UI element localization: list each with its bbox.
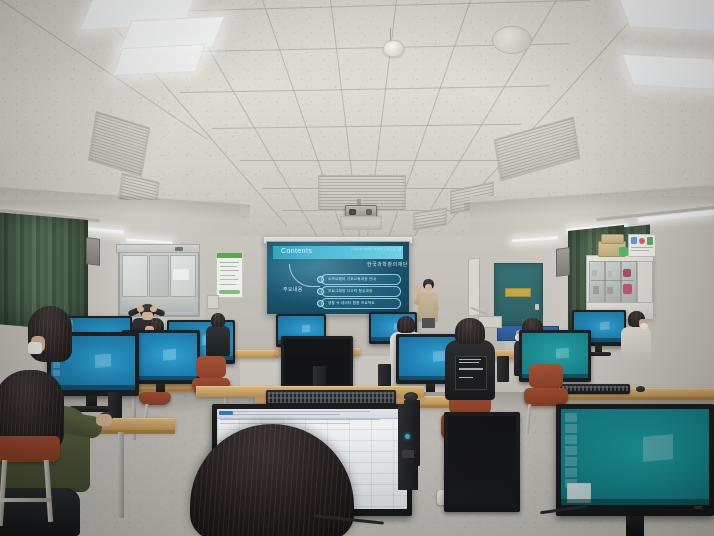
student-lap <box>0 488 80 536</box>
wall-speaker-right <box>556 247 570 277</box>
storage-box-lid <box>601 234 624 244</box>
cabinet-item <box>608 271 612 277</box>
jacket-back-print <box>455 356 487 390</box>
student-hair <box>211 313 225 327</box>
power-led <box>405 434 410 439</box>
student-artwork-poster <box>628 234 656 257</box>
projector-vent <box>366 209 372 215</box>
mouse[interactable] <box>636 386 645 392</box>
artwork-shape <box>647 237 653 245</box>
cabinet-glass-door[interactable] <box>589 261 605 303</box>
artwork-shape <box>639 238 645 244</box>
monitor-stand <box>626 516 644 536</box>
tower-port <box>402 450 414 458</box>
mouse[interactable] <box>404 392 418 401</box>
poster-footer-band <box>219 290 240 294</box>
student-hair <box>397 316 415 333</box>
chair-seat[interactable] <box>0 436 60 462</box>
monitor-foreground-right <box>556 404 714 516</box>
student-hand <box>96 414 112 426</box>
student-right-row <box>621 310 653 360</box>
windows-logo <box>302 325 313 335</box>
taskbar[interactable] <box>561 499 709 505</box>
student-hand <box>137 306 144 312</box>
desktop-icons[interactable] <box>565 413 581 490</box>
artwork-shape <box>631 237 637 244</box>
cabinet-item <box>623 284 632 294</box>
classroom-photo: Contents 교육과정 연계형 메이커 교육프로그램 한국과학창의재단 주요… <box>0 0 714 536</box>
poster-text-line <box>220 279 238 280</box>
chair-stretcher <box>0 498 50 502</box>
ceiling-panel <box>340 216 382 230</box>
student-hand <box>150 306 157 312</box>
detector-stem <box>390 28 391 41</box>
cabinet-item <box>593 286 599 294</box>
wall-decal <box>619 247 628 256</box>
cabinet-glass-door[interactable] <box>605 261 621 303</box>
cabinet-item <box>623 269 631 277</box>
cabinet-shelf <box>591 280 633 281</box>
door-glass-reflection <box>173 269 189 280</box>
cabinet-item <box>607 287 613 294</box>
student-torso <box>621 327 651 361</box>
projection-screen: Contents 교육과정 연계형 메이커 교육프로그램 한국과학창의재단 주요… <box>266 241 410 315</box>
windows-logo <box>643 433 683 469</box>
face-mask <box>28 342 42 354</box>
poster-text-line <box>220 270 239 271</box>
monitor-stand <box>426 384 435 392</box>
artwork-text-line <box>631 250 649 251</box>
ceiling-panel-light <box>112 44 205 76</box>
ceiling-panel-light <box>621 54 714 91</box>
artwork-text-line <box>631 247 653 248</box>
student-black-jacket <box>441 318 499 418</box>
chair-back[interactable] <box>529 364 563 388</box>
pc-tower[interactable] <box>398 404 418 490</box>
poster-text-line <box>220 266 237 267</box>
poster-header-band <box>217 253 242 258</box>
cabinet-solid-door[interactable] <box>637 261 653 303</box>
projector-lens <box>349 209 356 215</box>
door-glass-pane <box>122 255 148 297</box>
windows-logo <box>556 347 573 362</box>
document-app-badge <box>219 411 233 415</box>
keyboard[interactable] <box>560 384 630 394</box>
chair-seat[interactable] <box>139 392 171 405</box>
windows-logo <box>163 348 181 365</box>
monitor-screen <box>448 416 516 508</box>
projector-glare <box>267 242 409 314</box>
door-glass-pane <box>149 255 169 297</box>
presenter-face <box>425 284 432 291</box>
ceiling-grid-line <box>240 160 498 161</box>
cabinet-item <box>592 270 597 276</box>
poster-text-line <box>220 262 239 263</box>
smoke-detector <box>383 40 404 57</box>
student-torso <box>206 326 230 356</box>
classroom-poster-left <box>216 252 243 298</box>
face-mask <box>640 323 648 329</box>
door-nameplate <box>505 288 531 297</box>
monitor-foreground-right-partial <box>444 412 520 512</box>
door-handle[interactable] <box>535 304 539 310</box>
monitor-stand <box>156 384 165 392</box>
poster-text-line <box>220 284 236 285</box>
monitor-brand-mark <box>694 506 702 509</box>
student-hair <box>455 318 485 344</box>
wall-speaker-left <box>86 237 100 266</box>
windows-logo <box>600 321 612 332</box>
monitor-screen <box>561 409 709 505</box>
chair-back[interactable] <box>196 356 226 378</box>
cabinet-glass-door[interactable] <box>621 261 637 303</box>
wall-switch-panel <box>207 295 219 309</box>
door-transom <box>116 244 200 253</box>
student-center-left <box>205 312 231 356</box>
ceiling-speaker <box>492 26 532 54</box>
presenter-hand <box>415 286 421 293</box>
door-sensor <box>175 247 183 251</box>
poster-text-line <box>220 275 235 276</box>
